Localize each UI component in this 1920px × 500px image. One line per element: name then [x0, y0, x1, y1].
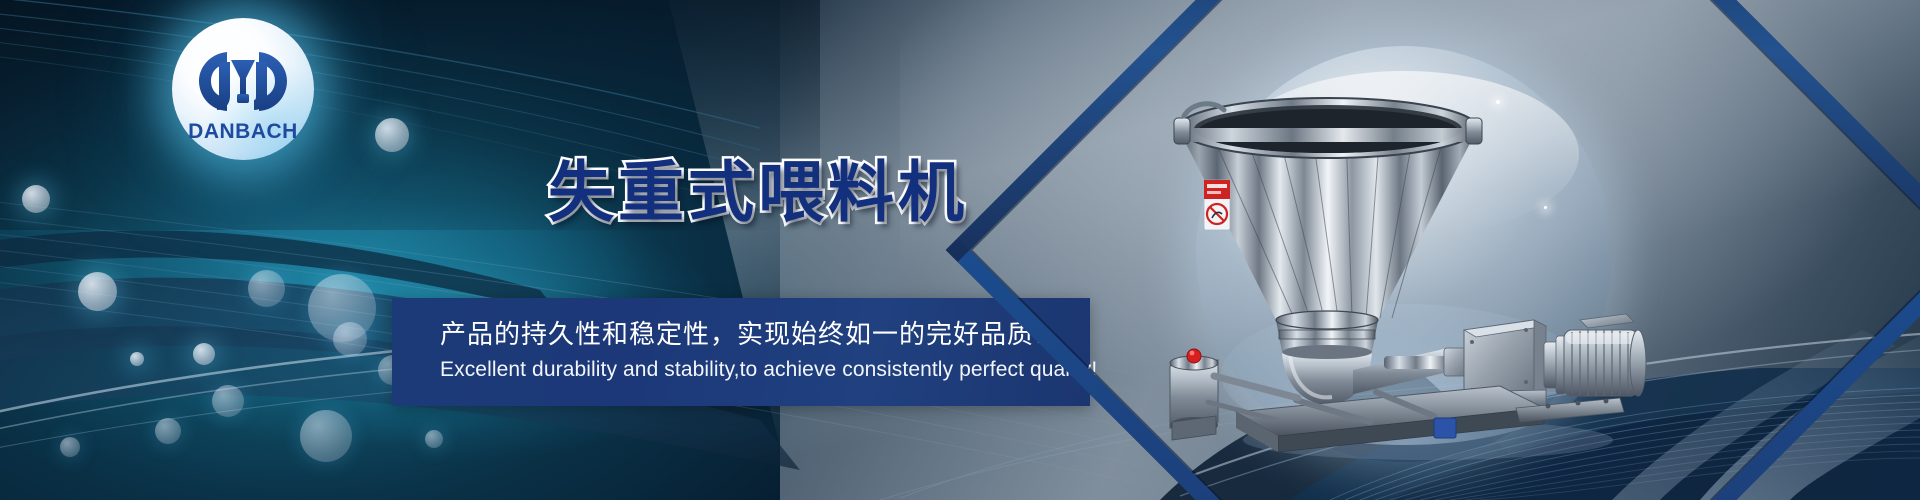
- electric-motor: [1564, 314, 1646, 396]
- bubble: [300, 410, 352, 462]
- bubble: [375, 118, 409, 152]
- bubble: [333, 322, 367, 356]
- page-title: 失重式喂料机: [548, 139, 968, 235]
- caption-chinese: 产品的持久性和稳定性，实现始终如一的完好品质!: [440, 314, 1045, 351]
- bubble: [193, 343, 215, 365]
- bubble: [248, 270, 285, 307]
- caption-panel: 产品的持久性和稳定性，实现始终如一的完好品质! Excellent durabi…: [392, 298, 1090, 406]
- product-banner: DANBACH 失重式喂料机 产品的持久性和稳定性，实现始终如一的完好品质! E…: [0, 0, 1920, 500]
- bubble: [78, 272, 117, 311]
- warning-label: [1204, 180, 1230, 230]
- bubble: [212, 385, 244, 417]
- bubble: [22, 185, 50, 213]
- danbach-logo[interactable]: DANBACH: [172, 18, 314, 160]
- blue-terminal-block: [1434, 418, 1456, 438]
- danbach-wordmark: DANBACH: [188, 120, 298, 144]
- motor-coupling: [1544, 336, 1566, 394]
- danbach-monogram-icon: [197, 48, 289, 119]
- bubble: [130, 352, 144, 366]
- bubble: [425, 430, 443, 448]
- bubble: [155, 418, 181, 444]
- loss-in-weight-feeder: [1148, 30, 1668, 470]
- bubble: [60, 437, 80, 457]
- caption-english: Excellent durability and stability,to ac…: [440, 358, 1097, 382]
